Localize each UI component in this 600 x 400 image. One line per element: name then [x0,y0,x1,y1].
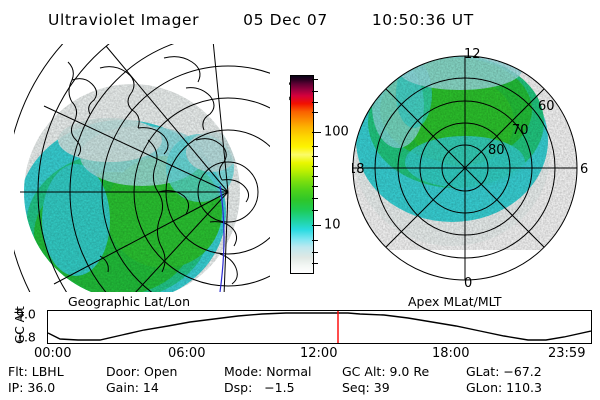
colorbar-minor-tick [312,176,318,177]
colorbar-minor-tick [312,79,318,80]
instrument-title: Ultraviolet Imager [48,11,199,29]
status-mode: Mode: Normal [224,364,342,380]
geographic-image-panel[interactable] [14,44,270,292]
status-dsp: Dsp: −1.5 [224,380,342,396]
colorbar-minor-tick [312,252,318,253]
mlt-label-0: 0 [464,276,472,291]
geographic-panel-title: Geographic Lat/Lon [68,294,190,309]
observation-date: 05 Dec 07 [243,11,328,29]
colorbar-minor-tick [312,263,318,264]
colorbar-major-tick-10 [312,225,321,226]
status-door: Door: Open [106,364,224,380]
status-bar: Flt: LBHL Door: Open Mode: Normal GC Alt… [8,364,600,395]
mlt-label-18: 18 [352,162,365,177]
orbit-xtick-0600: 06:00 [168,346,205,361]
colorbar-label-100: 100 [324,125,349,140]
orbit-trace [48,311,591,343]
uv-imager-window: Ultraviolet Imager 05 Dec 07 10:50:36 UT [0,0,600,400]
orbit-xtick-2359: 23:59 [548,346,585,361]
mlat-label-80: 80 [488,143,505,158]
colorbar-minor-tick [312,240,318,241]
colorbar-gradient[interactable] [290,75,314,274]
colorbar-container: photon cm-2s-1 100 10 [268,50,346,294]
orbit-xtick-1200: 12:00 [300,346,337,361]
colorbar-minor-tick [312,210,318,211]
mlt-label-6: 6 [580,162,588,177]
colorbar-minor-tick [312,166,318,167]
colorbar-minor-tick [312,91,318,92]
orbit-xtick-0000: 00:00 [34,346,71,361]
colorbar-minor-tick [312,112,318,113]
mlt-dial-grid [353,56,577,280]
colorbar-minor-tick [312,198,318,199]
status-row-2: IP: 36.0 Gain: 14 Dsp: −1.5 Seq: 39 GLon… [8,380,600,396]
orbit-ytick-low: 1.8 [16,330,36,345]
colorbar-major-tick-100 [312,132,321,133]
orbit-xtick-1800: 18:00 [432,346,469,361]
status-gain: Gain: 14 [106,380,224,396]
geographic-plot [14,44,270,292]
status-glon: GLon: 110.3 [466,380,542,396]
apex-image-panel[interactable]: 12 6 0 18 80 70 60 [352,44,596,292]
status-gc-alt: GC Alt: 9.0 Re [342,364,466,380]
apex-plot: 12 6 0 18 80 70 60 [352,44,596,292]
altitude-curve [48,313,591,340]
colorbar-minor-tick [312,146,318,147]
mlat-label-70: 70 [512,123,529,138]
status-filter: Flt: LBHL [8,364,106,380]
status-glat: GLat: −67.2 [466,364,542,380]
colorbar-label-10: 10 [324,218,341,233]
apex-panel-title: Apex MLat/MLT [408,294,502,309]
colorbar-minor-tick [312,186,318,187]
status-ip: IP: 36.0 [8,380,106,396]
orbit-altitude-axis-label: GC Alt [13,295,27,355]
status-seq: Seq: 39 [342,380,466,396]
mlat-label-60: 60 [538,99,555,114]
colorbar-minor-tick [312,156,318,157]
orbit-ytick-high: 9.0 [16,307,36,322]
colorbar-minor-tick [312,102,318,103]
status-row-1: Flt: LBHL Door: Open Mode: Normal GC Alt… [8,364,600,380]
header: Ultraviolet Imager 05 Dec 07 10:50:36 UT [0,8,600,32]
mlt-label-12: 12 [464,47,481,62]
observation-time: 10:50:36 UT [372,11,474,29]
orbit-altitude-plot[interactable] [47,310,592,344]
aurora-emission-apex [352,50,596,246]
